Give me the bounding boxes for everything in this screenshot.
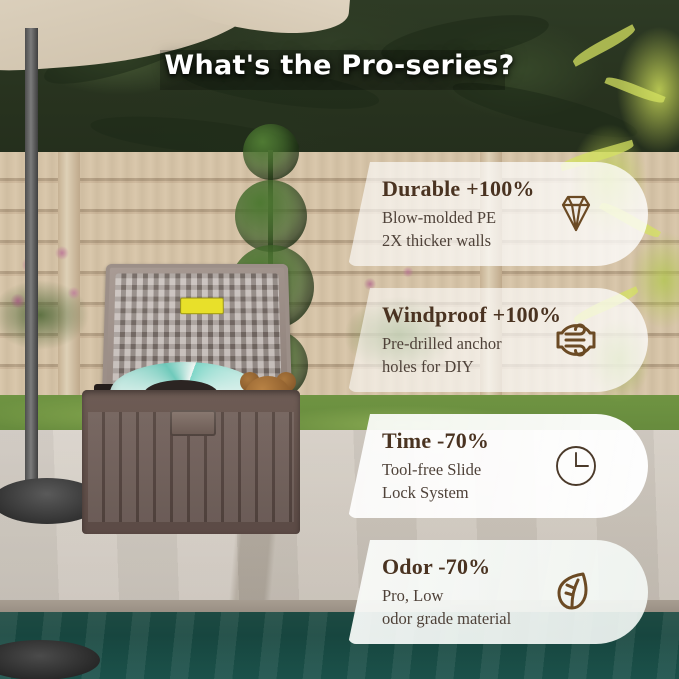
card-heading: Odor -70% xyxy=(382,554,511,580)
card-line-2: odor grade material xyxy=(382,607,511,630)
card-line-1: Pre-drilled anchor xyxy=(382,332,561,355)
feature-card-durable: Durable +100% Blow-molded PE 2X thicker … xyxy=(348,162,648,266)
lid-warning-label xyxy=(180,298,224,315)
promo-image: What's the Pro-series? Durable +100% Blo… xyxy=(0,0,679,679)
card-heading: Windproof +100% xyxy=(382,302,561,328)
card-text-block: Windproof +100% Pre-drilled anchor holes… xyxy=(382,302,561,379)
topiary-ball xyxy=(235,180,307,252)
topiary-ball xyxy=(243,124,299,180)
diamond-icon xyxy=(550,188,602,240)
card-line-1: Blow-molded PE xyxy=(382,206,535,229)
patio-umbrella-pole xyxy=(25,28,38,498)
deck-box-handle xyxy=(170,410,216,436)
card-line-1: Pro, Low xyxy=(382,584,511,607)
card-line-2: holes for DIY xyxy=(382,355,561,378)
page-title: What's the Pro-series? xyxy=(0,50,679,81)
card-text-block: Time -70% Tool-free Slide Lock System xyxy=(382,428,489,505)
card-line-1: Tool-free Slide xyxy=(382,458,489,481)
card-text-block: Durable +100% Blow-molded PE 2X thicker … xyxy=(382,176,535,253)
card-heading: Durable +100% xyxy=(382,176,535,202)
card-heading: Time -70% xyxy=(382,428,489,454)
feature-card-time: Time -70% Tool-free Slide Lock System xyxy=(348,414,648,518)
card-line-2: Lock System xyxy=(382,481,489,504)
feature-card-windproof: Windproof +100% Pre-drilled anchor holes… xyxy=(348,288,648,392)
card-text-block: Odor -70% Pro, Low odor grade material xyxy=(382,554,511,631)
leaf-icon xyxy=(550,566,602,618)
wind-icon xyxy=(550,314,602,366)
card-line-2: 2X thicker walls xyxy=(382,229,535,252)
clock-icon xyxy=(550,440,602,492)
feature-card-odor: Odor -70% Pro, Low odor grade material xyxy=(348,540,648,644)
patio-umbrella-base-lower xyxy=(0,640,100,679)
deck-box-product xyxy=(82,262,300,534)
